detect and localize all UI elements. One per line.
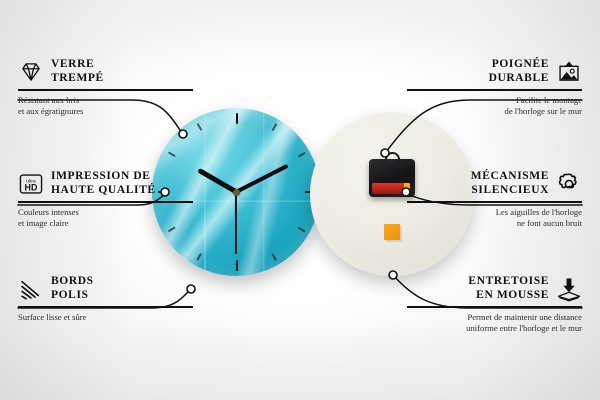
hanging-loop-icon	[385, 152, 400, 162]
arrow-onto-pad-icon	[556, 276, 582, 302]
foam-spacer	[384, 224, 400, 240]
feature-bords-polis: BORDS POLIS Surface lisse et sûre	[18, 275, 193, 323]
feature-title: VERRE TREMPÉ	[51, 58, 104, 85]
feature-rule	[407, 201, 582, 203]
feature-header: ENTRETOISE EN MOUSSE	[407, 275, 582, 302]
feature-title: BORDS POLIS	[51, 275, 94, 302]
tick-6	[236, 260, 238, 271]
feature-description: Permet de maintenir une distance uniform…	[407, 312, 582, 335]
feature-description: Les aiguilles de l'horloge ne font aucun…	[407, 207, 582, 230]
feature-header: VERRE TREMPÉ	[18, 58, 193, 85]
clock-hand-cap	[233, 189, 240, 196]
feature-rule	[407, 89, 582, 91]
feature-rule	[18, 89, 193, 91]
tick-12	[236, 113, 238, 124]
feature-verre-trempe: VERRE TREMPÉ Résistant aux bris et aux é…	[18, 58, 193, 118]
clock-second-hand	[235, 192, 237, 254]
ultra-hd-badge-icon: ultra HD	[18, 171, 44, 197]
feature-title: MÉCANISME SILENCIEUX	[471, 170, 549, 197]
feature-header: MÉCANISME SILENCIEUX	[407, 170, 582, 197]
battery	[372, 183, 410, 194]
feature-entretoise-en-mousse: ENTRETOISE EN MOUSSE Permet de maintenir…	[407, 275, 582, 335]
feature-header: BORDS POLIS	[18, 275, 193, 302]
feature-impression-haute-qualite: ultra HD IMPRESSION DE HAUTE QUALITÉ Cou…	[18, 170, 193, 230]
feature-rule	[407, 306, 582, 308]
feature-description: Couleurs intenses et image claire	[18, 207, 193, 230]
diamond-icon	[18, 59, 44, 85]
feature-rule	[18, 201, 193, 203]
feature-description: Surface lisse et sûre	[18, 312, 193, 324]
feature-description: Facilite le montage de l'horloge sur le …	[407, 95, 582, 118]
feature-mecanisme-silencieux: MÉCANISME SILENCIEUX Les aiguilles de l'…	[407, 170, 582, 230]
diagonal-lines-icon	[18, 276, 44, 302]
feature-header: POIGNÉE DURABLE	[407, 58, 582, 85]
feature-poignee-durable: POIGNÉE DURABLE Facilite le montage de l…	[407, 58, 582, 118]
ultra-hd-bottom-text: HD	[25, 182, 38, 192]
feature-title: ENTRETOISE EN MOUSSE	[468, 275, 549, 302]
gear-icon	[556, 171, 582, 197]
feature-rule	[18, 306, 193, 308]
hanging-picture-icon	[556, 59, 582, 85]
infographic-canvas: VERRE TREMPÉ Résistant aux bris et aux é…	[0, 0, 600, 400]
feature-header: ultra HD IMPRESSION DE HAUTE QUALITÉ	[18, 170, 193, 197]
feature-description: Résistant aux bris et aux égratignures	[18, 95, 193, 118]
feature-title: IMPRESSION DE HAUTE QUALITÉ	[51, 170, 156, 197]
feature-title: POIGNÉE DURABLE	[489, 58, 549, 85]
